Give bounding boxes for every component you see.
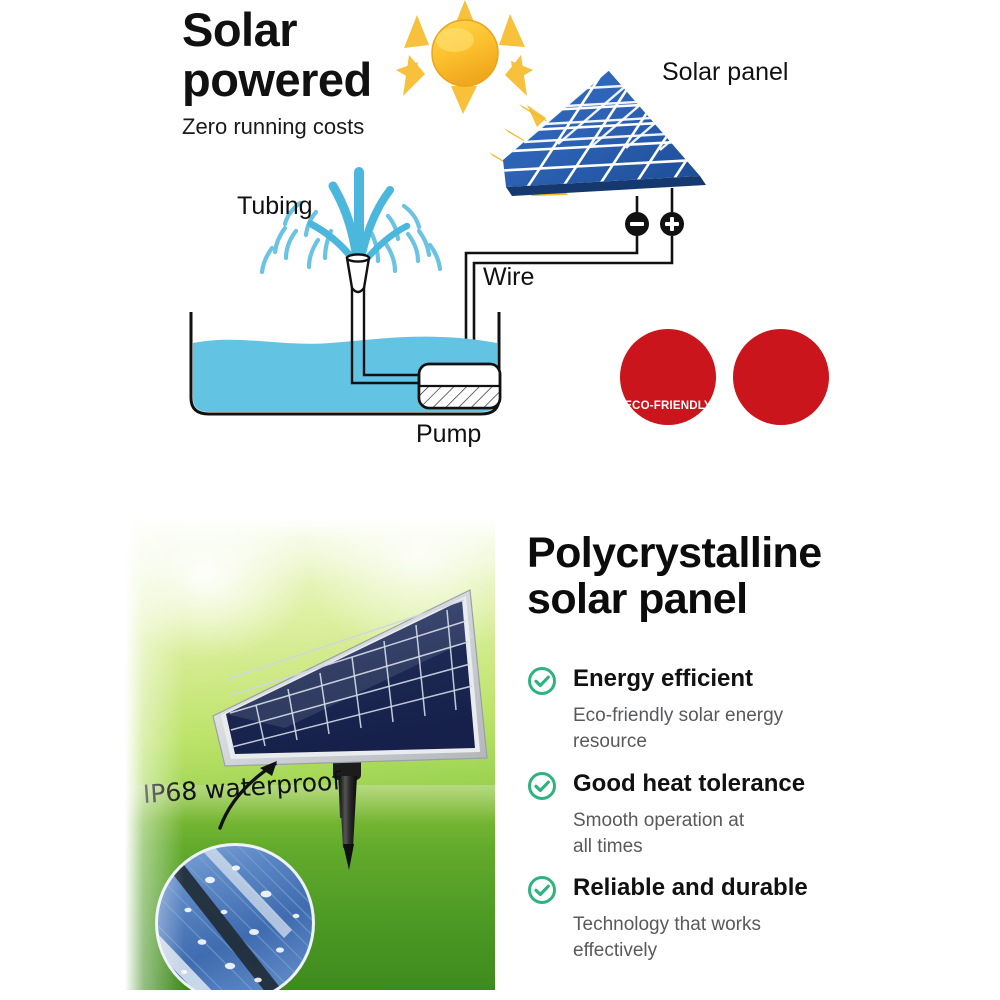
check-circle-icon xyxy=(527,875,557,905)
check-circle-icon xyxy=(527,771,557,801)
check-circle-icon xyxy=(527,666,557,696)
label-solar-panel: Solar panel xyxy=(662,58,788,87)
feature-description: Technology that works effectively xyxy=(573,912,947,964)
product-title-line-1: Polycrystalline xyxy=(527,530,822,576)
feature-title: Energy efficient xyxy=(573,665,753,693)
label-pump: Pump xyxy=(416,420,481,449)
badge-zero-running-costs xyxy=(733,329,829,425)
feature-item: Reliable and durable Technology that wor… xyxy=(527,874,947,964)
feature-description-line-1: Eco-friendly solar energy xyxy=(573,703,947,729)
product-photo: IP68 waterproof xyxy=(125,518,495,990)
feature-title: Reliable and durable xyxy=(573,874,808,902)
feature-description: Eco-friendly solar energy resource xyxy=(573,703,947,755)
feature-description-line-2: resource xyxy=(573,729,947,755)
fountain-system-diagram: ZERO RUNNING COSTS xyxy=(0,0,1000,500)
waterproof-closeup-inset xyxy=(155,843,315,990)
pump xyxy=(419,364,500,408)
feature-title: Good heat tolerance xyxy=(573,770,805,798)
feature-description-line-1: Technology that works xyxy=(573,912,947,938)
feature-item: Energy efficient Eco-friendly solar ener… xyxy=(527,665,947,755)
feature-description-line-2: effectively xyxy=(573,938,947,964)
badge-eco-friendly: ECO-FRIENDLY xyxy=(620,329,716,425)
polycrystalline-panel-section: IP68 waterproof Polycrystalline solar pa… xyxy=(0,500,1000,1000)
label-wire: Wire xyxy=(483,263,534,292)
product-title-line-2: solar panel xyxy=(527,576,822,622)
badge-eco-friendly-label: ECO-FRIENDLY xyxy=(620,400,716,412)
feature-description: Smooth operation at all times xyxy=(573,808,947,860)
feature-description-line-2: all times xyxy=(573,834,947,860)
feature-item: Good heat tolerance Smooth operation at … xyxy=(527,770,947,860)
label-tubing: Tubing xyxy=(237,192,313,221)
product-title: Polycrystalline solar panel xyxy=(527,530,822,622)
feature-description-line-1: Smooth operation at xyxy=(573,808,947,834)
solar-powered-diagram-section: Solar powered Zero running costs xyxy=(0,0,1000,500)
